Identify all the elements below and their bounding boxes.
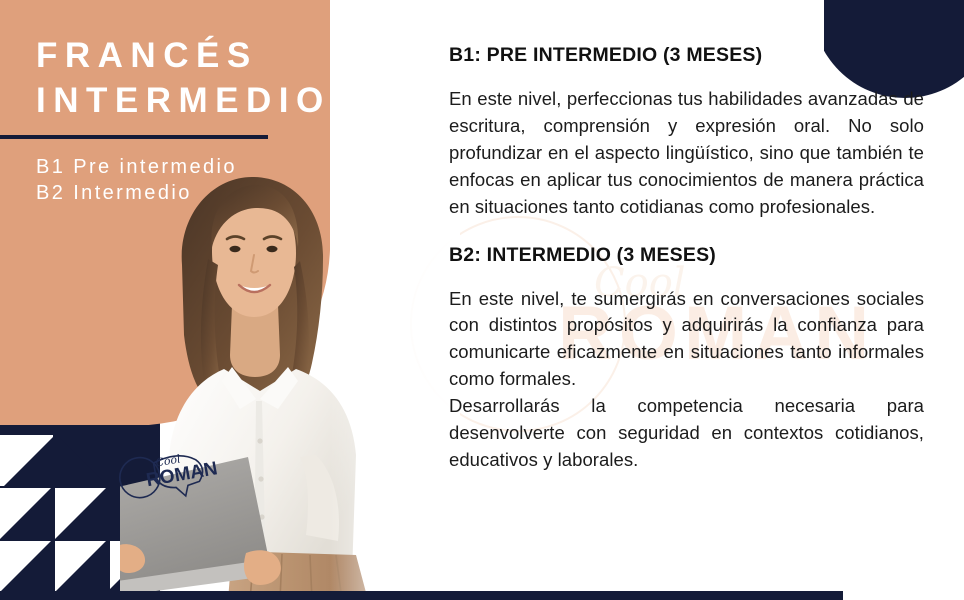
- student-photo: [120, 155, 430, 600]
- course-content: B1: PRE INTERMEDIO (3 MESES) En este niv…: [449, 44, 924, 474]
- course-title-line-1: FRANCÉS: [36, 34, 340, 79]
- bottom-accent-bar: [0, 591, 843, 600]
- section-b1-heading: B1: PRE INTERMEDIO (3 MESES): [449, 44, 924, 67]
- section-b2-heading: B2: INTERMEDIO (3 MESES): [449, 244, 924, 267]
- section-b1-paragraph-1: En este nivel, perfeccionas tus habilida…: [449, 86, 924, 221]
- section-b2-paragraph-1: En este nivel, te sumergirás en conversa…: [449, 286, 924, 394]
- section-b1: B1: PRE INTERMEDIO (3 MESES) En este niv…: [449, 44, 924, 221]
- left-panel-text: FRANCÉS INTERMEDIO B1 Pre intermedio B2 …: [0, 0, 340, 207]
- course-flyer: ROMAN Cool FRANCÉS INTERMEDIO B1 Pre int…: [0, 0, 964, 600]
- course-title-line-2: INTERMEDIO: [36, 79, 340, 124]
- section-b1-body: En este nivel, perfeccionas tus habilida…: [449, 86, 924, 221]
- section-b2-paragraph-2: Desarrollarás la competencia necesaria p…: [449, 393, 924, 474]
- level-label-b2: B2 Intermedio: [36, 180, 340, 207]
- section-b2-body: En este nivel, te sumergirás en conversa…: [449, 286, 924, 474]
- section-b2: B2: INTERMEDIO (3 MESES) En este nivel, …: [449, 244, 924, 474]
- level-label-b1: B1 Pre intermedio: [36, 154, 340, 181]
- title-divider: [0, 135, 268, 139]
